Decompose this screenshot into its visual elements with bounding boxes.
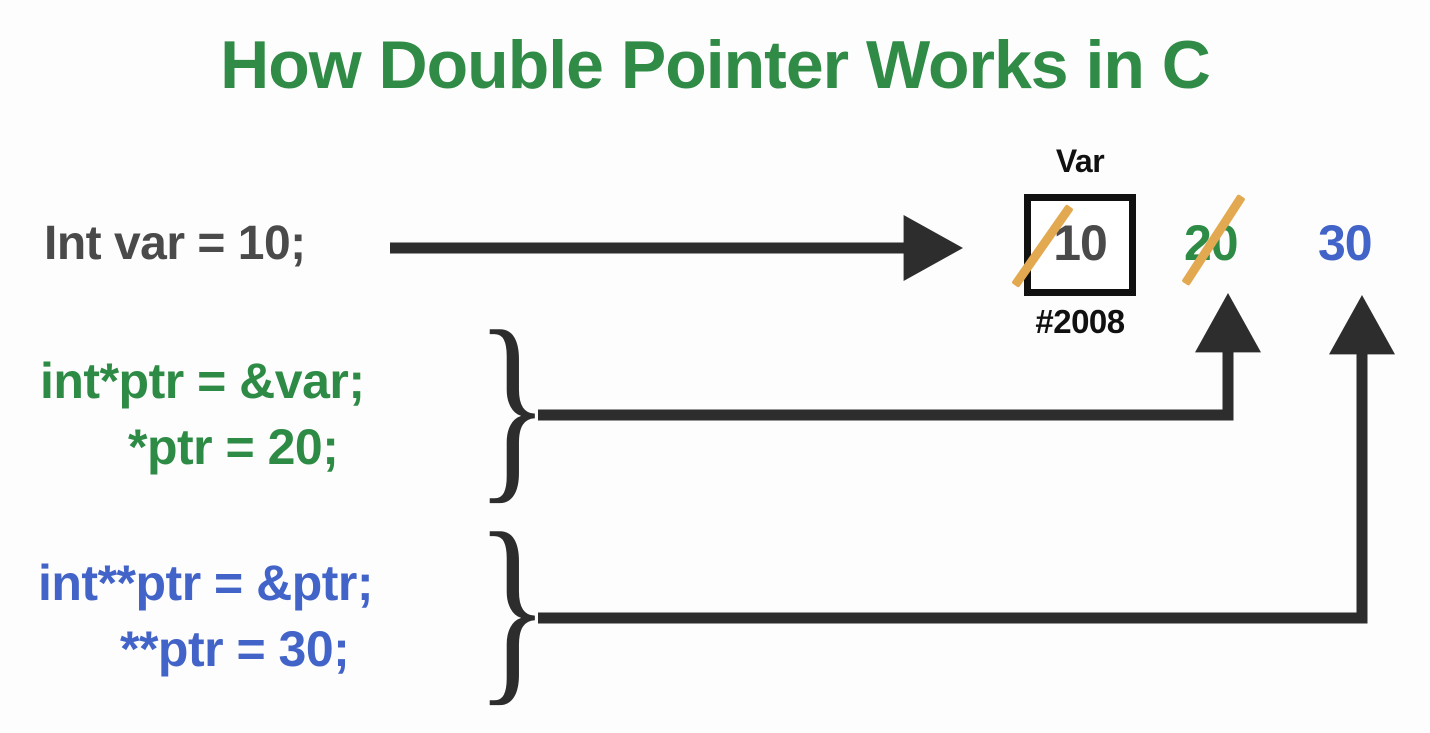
- updated-value-30: 30: [1318, 214, 1372, 272]
- page-title: How Double Pointer Works in C: [0, 28, 1430, 103]
- double-pointer-declaration: int**ptr = &ptr;: [38, 558, 373, 608]
- single-pointer-declaration: int*ptr = &var;: [40, 356, 365, 406]
- double-pointer-assignment: **ptr = 30;: [120, 624, 349, 674]
- var-label: Var: [1024, 143, 1136, 180]
- memory-address-label: #2008: [1004, 303, 1156, 341]
- double-pointer-brace: }: [476, 502, 549, 712]
- diagram-canvas: How Double Pointer Works in C Int var = …: [0, 0, 1430, 733]
- declaration-int-var: Int var = 10;: [44, 220, 306, 268]
- single-pointer-assignment: *ptr = 20;: [128, 422, 338, 472]
- arrow-double-pointer-to-30: [538, 328, 1362, 618]
- single-pointer-brace: }: [476, 300, 549, 510]
